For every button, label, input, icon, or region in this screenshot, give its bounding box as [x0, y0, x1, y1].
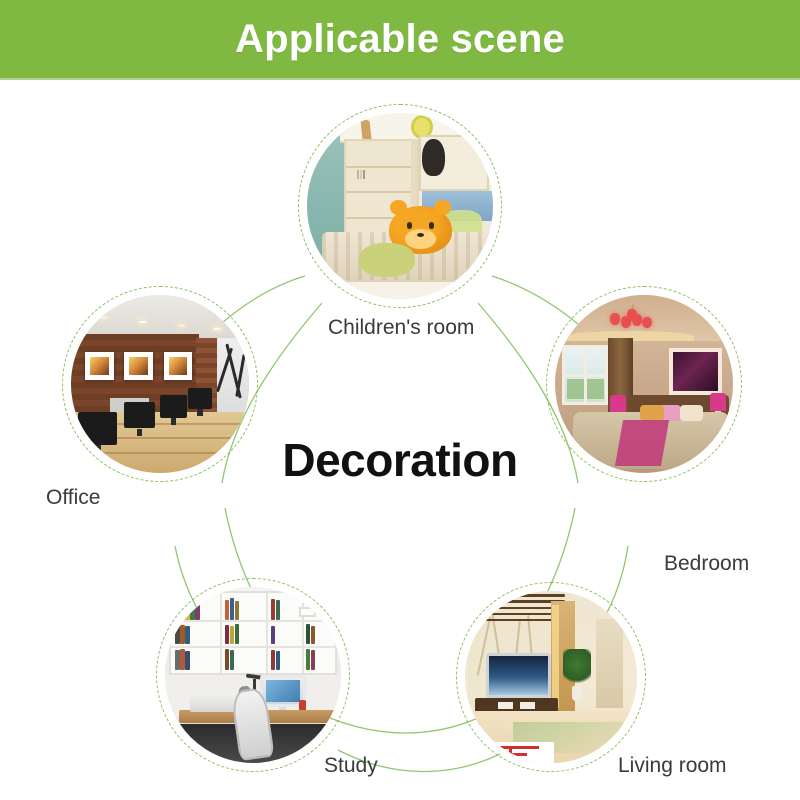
scene-node-living-room[interactable]: Living room — [456, 582, 646, 772]
scene-label-childrens-room: Children's room — [328, 316, 474, 340]
scene-photo-childrens-room[interactable] — [307, 113, 493, 299]
scene-photo-study[interactable] — [165, 587, 341, 763]
center-title: Decoration — [0, 433, 800, 487]
scene-label-office: Office — [46, 486, 100, 510]
diagram-stage: Children's room — [0, 78, 800, 800]
study-illustration — [165, 587, 341, 763]
scene-node-study[interactable]: Study — [156, 578, 350, 772]
applicable-scene-infographic: Applicable scene — [0, 0, 800, 800]
childrens-room-illustration — [307, 113, 493, 299]
header-banner: Applicable scene — [0, 0, 800, 78]
scene-photo-living-room[interactable] — [465, 591, 637, 763]
scene-node-childrens-room[interactable]: Children's room — [298, 104, 502, 308]
page-title: Applicable scene — [235, 17, 565, 62]
scene-label-study: Study — [324, 754, 378, 778]
scene-label-living-room: Living room — [618, 754, 727, 778]
living-room-illustration — [465, 591, 637, 763]
scene-label-bedroom: Bedroom — [664, 552, 749, 576]
